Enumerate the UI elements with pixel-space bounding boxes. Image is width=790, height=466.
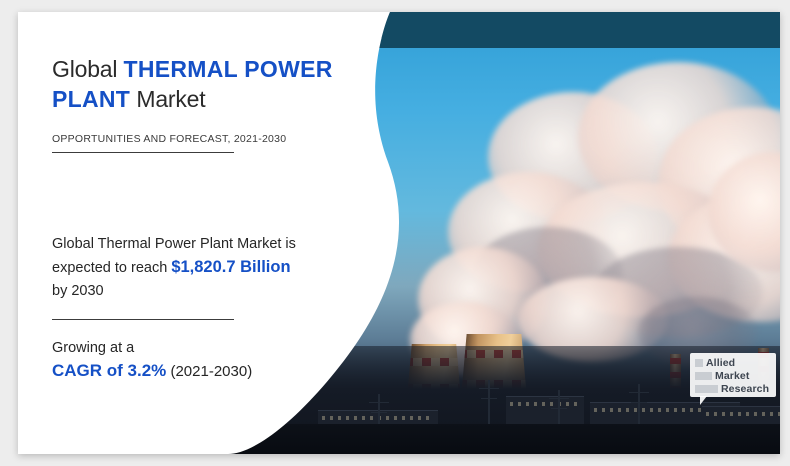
market-value-line-1: Global Thermal Power Plant Market is <box>52 233 352 256</box>
logo-bar-icon <box>695 385 718 393</box>
cagr-value: CAGR of 3.2% <box>52 361 166 380</box>
logo-bar-icon <box>695 372 712 380</box>
market-value-line-3: by 2030 <box>52 280 352 303</box>
logo-row-3: Research <box>695 384 769 394</box>
cagr-prefix: Growing at a <box>52 338 352 359</box>
market-value-line-2: expected to reach $1,820.7 Billion <box>52 256 352 280</box>
headline-suffix: Market <box>130 86 205 112</box>
logo-line-2: Market <box>715 371 749 381</box>
cagr-line: CAGR of 3.2% (2021-2030) <box>52 359 352 384</box>
allied-market-research-logo: Allied Market Research <box>690 353 776 405</box>
page-title: Global THERMAL POWER PLANT Market <box>52 54 352 114</box>
market-value-amount: $1,820.7 Billion <box>171 258 290 276</box>
market-value-block: Global Thermal Power Plant Market is exp… <box>52 233 352 303</box>
logo-bar-icon <box>695 359 703 367</box>
logo-row-2: Market <box>695 371 749 381</box>
logo-bubble-tail <box>700 396 707 405</box>
market-value-prefix: expected to reach <box>52 260 171 276</box>
subtitle: OPPORTUNITIES AND FORECAST, 2021-2030 <box>52 133 352 145</box>
logo-row-1: Allied <box>695 358 735 368</box>
subtitle-divider <box>52 152 234 153</box>
logo-line-3: Research <box>721 384 769 394</box>
stat-divider <box>52 319 234 320</box>
logo-line-1: Allied <box>706 358 735 368</box>
infographic-card: Global THERMAL POWER PLANT Market OPPORT… <box>18 12 780 454</box>
headline-prefix: Global <box>52 56 123 82</box>
panel-content: Global THERMAL POWER PLANT Market OPPORT… <box>52 54 352 384</box>
cagr-period: (2021-2030) <box>166 363 252 380</box>
